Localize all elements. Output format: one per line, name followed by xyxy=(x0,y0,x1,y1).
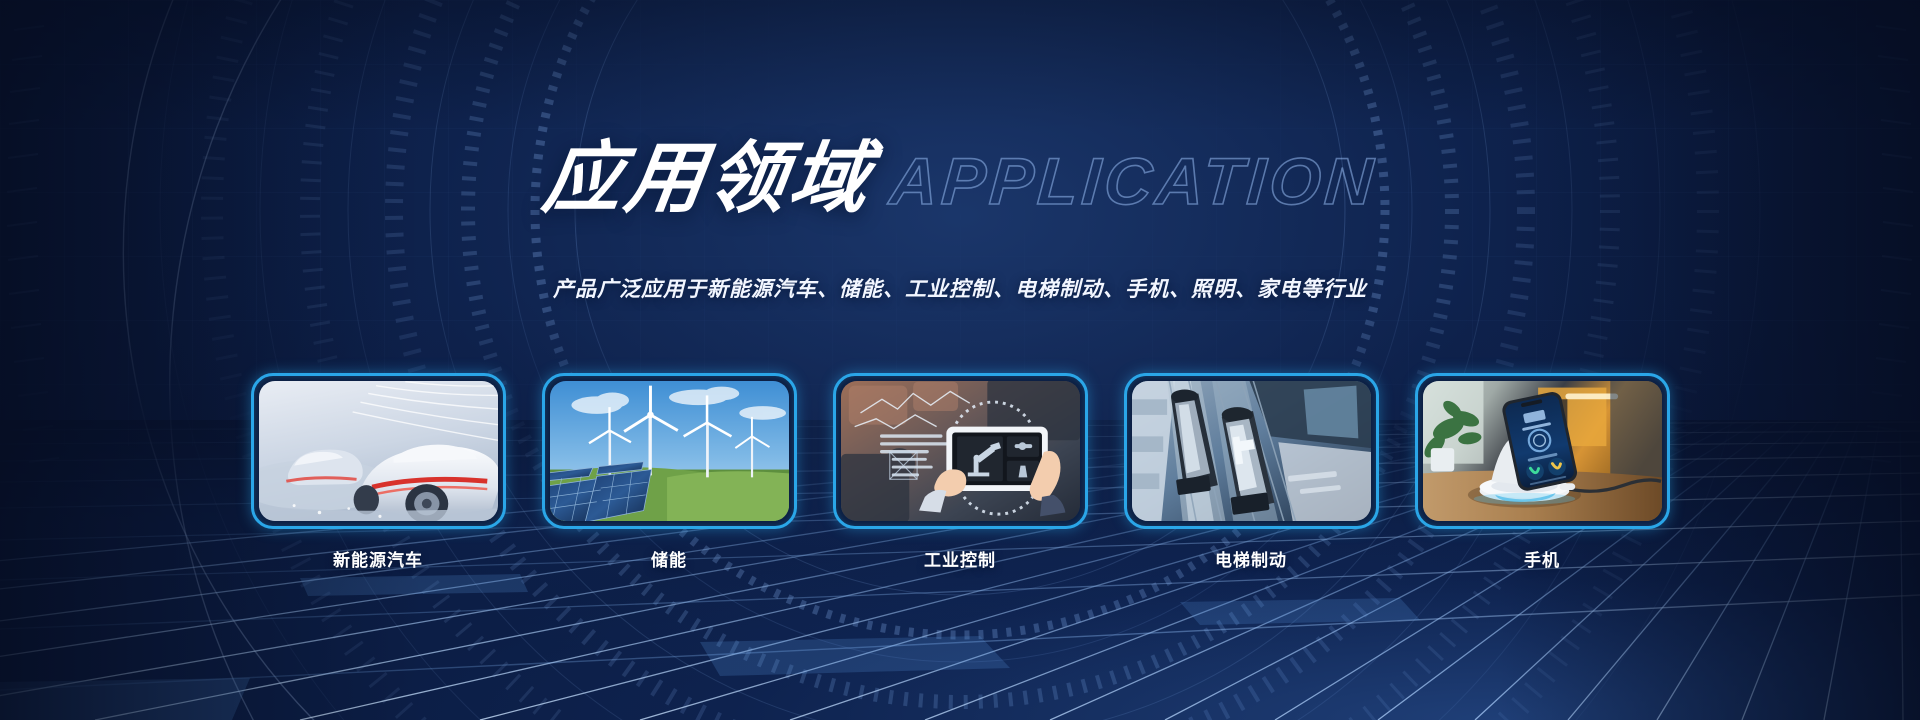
page-subtitle: 产品广泛应用于新能源汽车、储能、工业控制、电梯制动、手机、照明、家电等行业 xyxy=(0,273,1920,303)
smartphone-wireless-charger-photo xyxy=(1423,381,1662,521)
application-card[interactable]: 储能 xyxy=(542,373,797,571)
card-frame[interactable] xyxy=(833,373,1088,529)
card-label: 新能源汽车 xyxy=(251,546,506,571)
card-label: 储能 xyxy=(542,546,797,571)
glass-elevators-shaft-photo xyxy=(1132,381,1371,521)
card-frame[interactable] xyxy=(542,373,797,529)
card-frame[interactable] xyxy=(1415,373,1670,529)
industrial-tablet-robot-arm-photo xyxy=(841,381,1080,521)
card-label: 手机 xyxy=(1415,546,1670,571)
page-title-english: APPLICATION xyxy=(887,148,1378,218)
card-label: 工业控制 xyxy=(833,546,1088,571)
page-title: 应用领域 xyxy=(538,140,877,218)
card-label: 电梯制动 xyxy=(1124,546,1379,571)
card-frame[interactable] xyxy=(1124,373,1379,529)
application-card[interactable]: 新能源汽车 xyxy=(251,373,506,571)
application-card[interactable]: 电梯制动 xyxy=(1124,373,1379,571)
page-heading: 应用领域 APPLICATION xyxy=(0,140,1920,218)
wind-turbines-solar-panels-photo xyxy=(550,381,789,521)
card-frame[interactable] xyxy=(251,373,506,529)
application-card-list: 新能源汽车 xyxy=(0,373,1920,571)
application-card[interactable]: 手机 xyxy=(1415,373,1670,571)
application-card[interactable]: 工业控制 xyxy=(833,373,1088,571)
electric-sports-car-photo xyxy=(259,381,498,521)
hero-banner: 应用领域 APPLICATION 产品广泛应用于新能源汽车、储能、工业控制、电梯… xyxy=(0,0,1920,720)
